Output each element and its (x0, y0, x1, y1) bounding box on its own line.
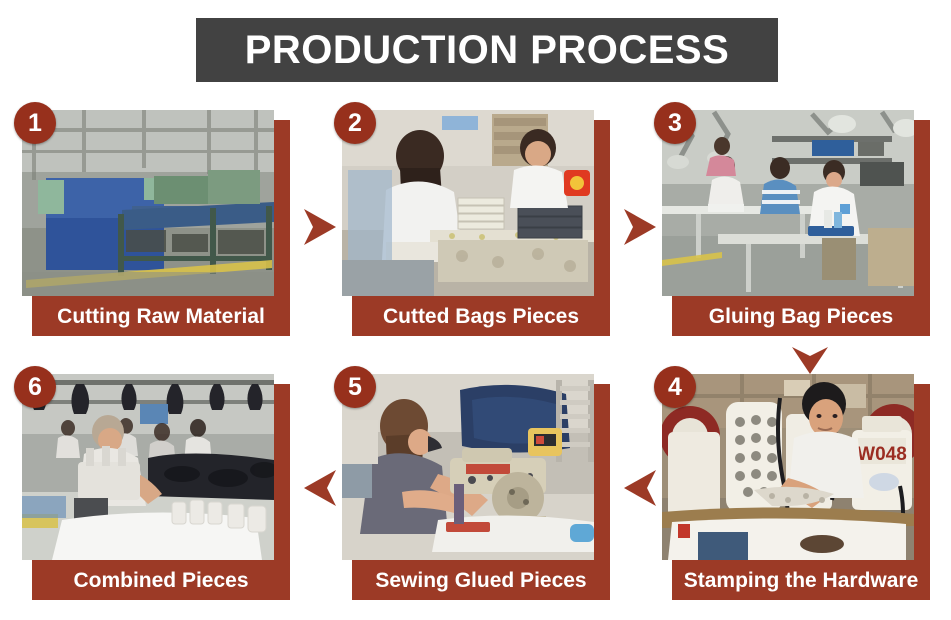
arrow-step2-to-step3-icon (620, 205, 660, 249)
step-caption-6: Combined Pieces (32, 560, 290, 600)
step-card-6[interactable]: 6 Combined Pieces (22, 374, 290, 600)
svg-text:W048: W048 (857, 444, 907, 465)
step-card-4[interactable]: W048 (662, 374, 930, 600)
step-photo-2 (342, 110, 594, 296)
step-caption-text-4: Stamping the Hardware (684, 570, 919, 591)
step-card-1[interactable]: 1 Cutting Raw Material (22, 110, 290, 336)
step-card-5[interactable]: 5 Sewing Glued Pieces (342, 374, 610, 600)
arrow-step1-to-step2-icon (300, 205, 340, 249)
step-number-3: 3 (668, 111, 682, 136)
step-badge-1: 1 (14, 102, 56, 144)
production-process-infographic: PRODUCTION PROCESS (0, 0, 951, 620)
step-caption-5: Sewing Glued Pieces (352, 560, 610, 600)
step-card-3[interactable]: 3 Gluing Bag Pieces (662, 110, 930, 336)
step-photo-5 (342, 374, 594, 560)
page-title-banner: PRODUCTION PROCESS (196, 18, 778, 82)
arrow-step4-to-step5-icon (620, 466, 660, 510)
step-photo-6 (22, 374, 274, 560)
step-photo-4: W048 (662, 374, 914, 560)
arrow-step3-to-step4-icon (788, 344, 832, 378)
step-badge-3: 3 (654, 102, 696, 144)
page-title: PRODUCTION PROCESS (245, 30, 730, 70)
step-badge-2: 2 (334, 102, 376, 144)
step-caption-text-6: Combined Pieces (73, 570, 248, 591)
step-badge-6: 6 (14, 366, 56, 408)
step-badge-4: 4 (654, 366, 696, 408)
step-card-2[interactable]: 2 Cutted Bags Pieces (342, 110, 610, 336)
step-badge-5: 5 (334, 366, 376, 408)
step-caption-2: Cutted Bags Pieces (352, 296, 610, 336)
step-caption-text-3: Gluing Bag Pieces (709, 306, 893, 327)
step-number-6: 6 (28, 375, 42, 400)
step-caption-3: Gluing Bag Pieces (672, 296, 930, 336)
step-caption-text-5: Sewing Glued Pieces (375, 570, 586, 591)
step-caption-text-2: Cutted Bags Pieces (383, 306, 579, 327)
step-caption-text-1: Cutting Raw Material (57, 306, 265, 327)
step-number-1: 1 (28, 111, 42, 136)
step-caption-4: Stamping the Hardware (672, 560, 930, 600)
arrow-step5-to-step6-icon (300, 466, 340, 510)
step-photo-1 (22, 110, 274, 296)
step-photo-3 (662, 110, 914, 296)
step-number-2: 2 (348, 111, 362, 136)
step-caption-1: Cutting Raw Material (32, 296, 290, 336)
step-number-4: 4 (668, 375, 682, 400)
step-number-5: 5 (348, 375, 362, 400)
